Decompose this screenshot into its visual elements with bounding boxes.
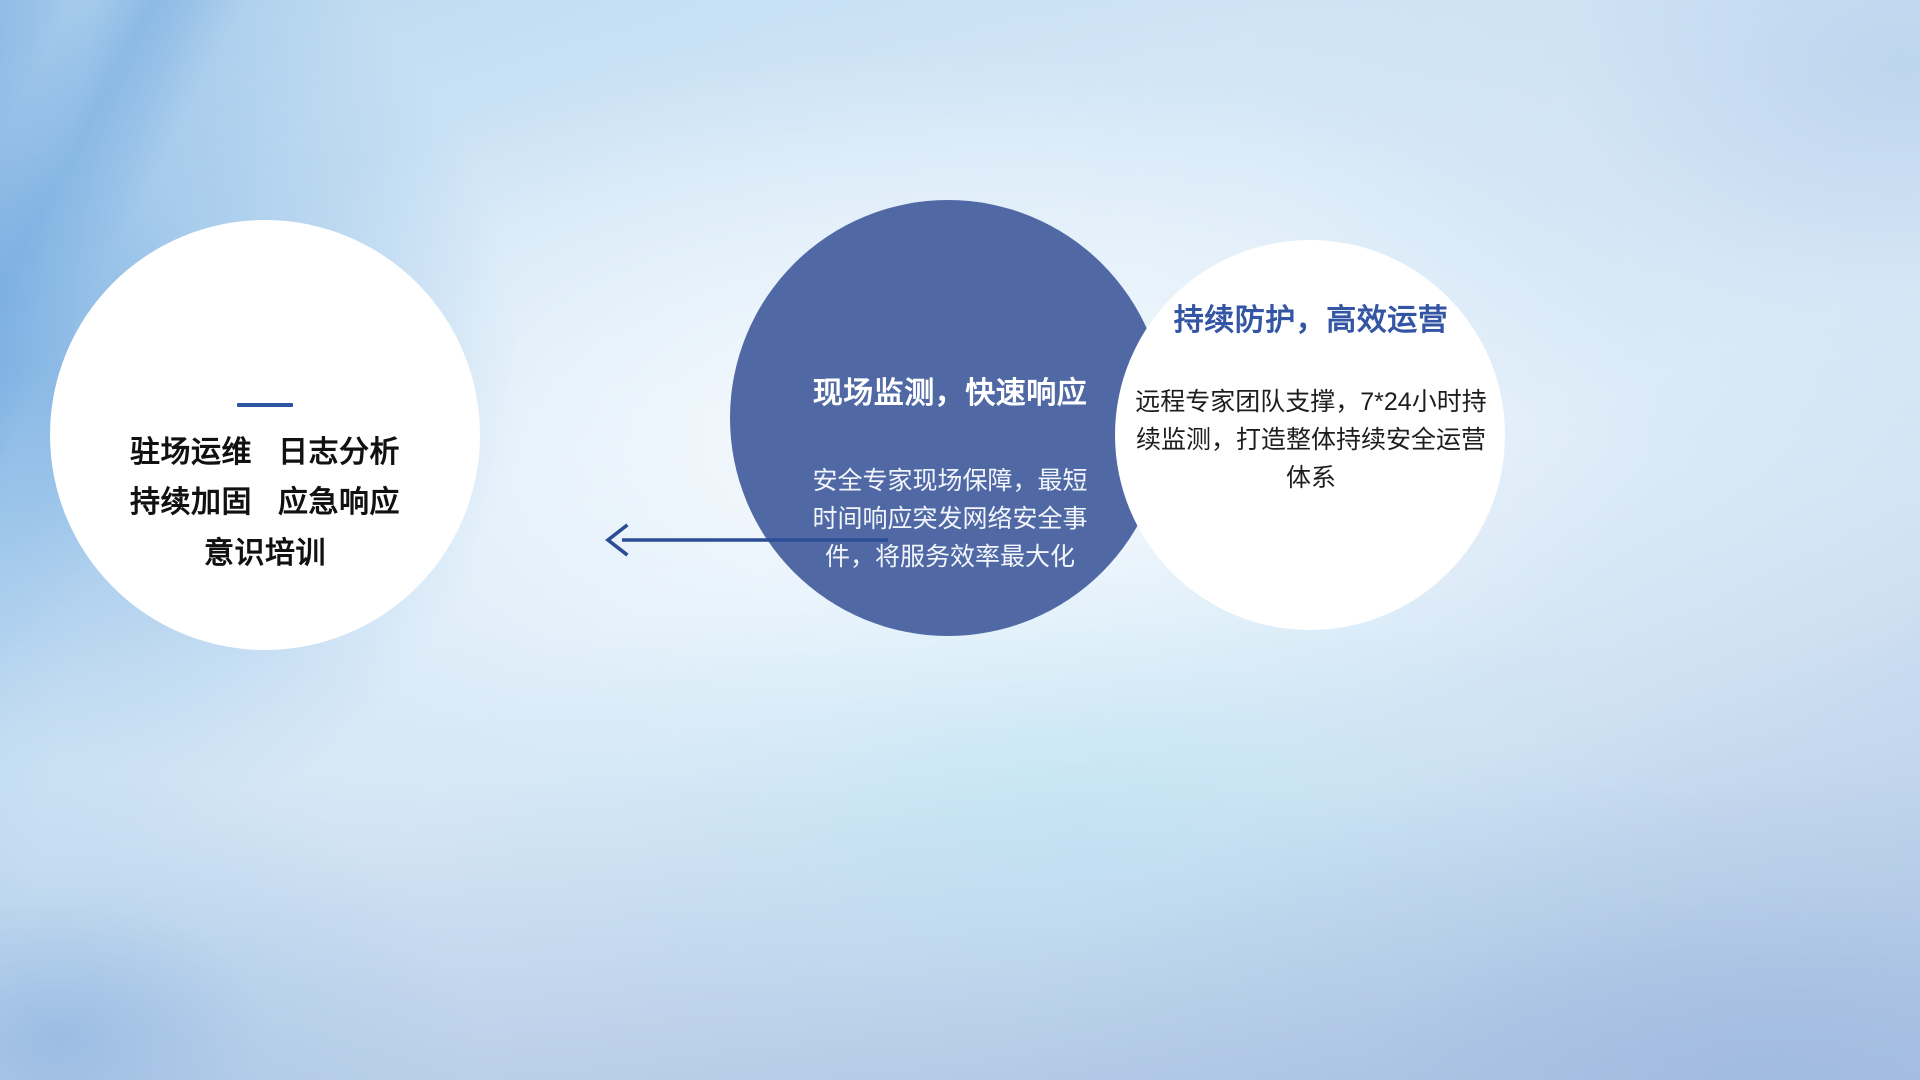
capability-row: 驻场运维 日志分析 bbox=[130, 435, 400, 470]
middle-circle-content: 现场监测，快速响应 安全专家现场保障，最短时间响应突发网络安全事件，将服务效率最… bbox=[740, 200, 1160, 636]
capability-item: 日志分析 bbox=[278, 435, 400, 470]
right-circle-body: 远程专家团队支撑，7*24小时持续监测，打造整体持续安全运营体系 bbox=[1135, 383, 1487, 497]
slide-canvas: 驻场运维 日志分析 持续加固 应急响应 意识培训 现场监测，快速响应 安全专家现… bbox=[0, 0, 1920, 1080]
capability-item: 应急响应 bbox=[278, 485, 400, 520]
left-circle-content: 驻场运维 日志分析 持续加固 应急响应 意识培训 bbox=[50, 220, 480, 650]
capability-item: 意识培训 bbox=[204, 536, 326, 571]
capability-list: 驻场运维 日志分析 持续加固 应急响应 意识培训 bbox=[130, 435, 400, 571]
left-arrow-icon bbox=[600, 518, 890, 562]
capability-item: 驻场运维 bbox=[130, 435, 252, 470]
right-circle-heading: 持续防护，高效运营 bbox=[1174, 295, 1449, 339]
right-circle-content: 持续防护，高效运营 远程专家团队支撑，7*24小时持续监测，打造整体持续安全运营… bbox=[1120, 240, 1502, 630]
accent-dash-divider bbox=[237, 403, 293, 407]
capability-row: 持续加固 应急响应 bbox=[130, 485, 400, 520]
capability-row: 意识培训 bbox=[204, 536, 326, 571]
capability-item: 持续加固 bbox=[130, 485, 252, 520]
middle-circle-heading: 现场监测，快速响应 bbox=[813, 368, 1088, 412]
